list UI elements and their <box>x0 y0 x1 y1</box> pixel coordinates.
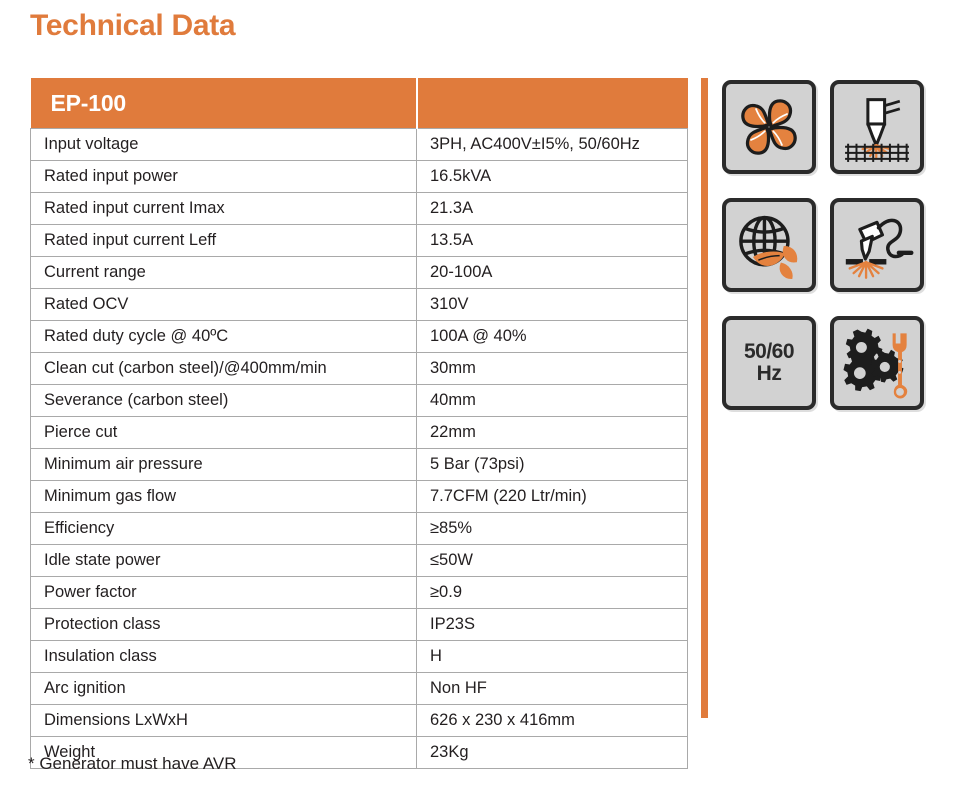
fan-icon <box>733 91 805 163</box>
table-row: Pierce cut22mm <box>31 417 688 449</box>
spec-value: 16.5kVA <box>417 161 688 193</box>
spec-label: Arc ignition <box>31 673 417 705</box>
table-row: Rated input current Leff13.5A <box>31 225 688 257</box>
table-row: Arc ignitionNon HF <box>31 673 688 705</box>
spec-value: H <box>417 641 688 673</box>
spec-label: Idle state power <box>31 545 417 577</box>
spec-value: 20-100A <box>417 257 688 289</box>
spec-value: Non HF <box>417 673 688 705</box>
spec-label: Clean cut (carbon steel)/@400mm/min <box>31 353 417 385</box>
page-title: Technical Data <box>30 9 235 43</box>
feature-tile-easy-maintenance <box>830 316 924 410</box>
table-row: Dimensions LxWxH626 x 230 x 416mm <box>31 705 688 737</box>
value-column-header <box>417 78 688 129</box>
table-row: Rated input current Imax21.3A <box>31 193 688 225</box>
spec-value: 7.7CFM (220 Ltr/min) <box>417 481 688 513</box>
table-body: Input voltage3PH, AC400V±I5%, 50/60HzRat… <box>31 129 688 769</box>
spec-value: 100A @ 40% <box>417 321 688 353</box>
frequency-unit: Hz <box>744 363 794 385</box>
gears-wrench-icon <box>838 324 916 402</box>
spec-value: 13.5A <box>417 225 688 257</box>
spec-label: Minimum gas flow <box>31 481 417 513</box>
table-row: Input voltage3PH, AC400V±I5%, 50/60Hz <box>31 129 688 161</box>
feature-tile-fine-mesh-cutting <box>830 80 924 174</box>
feature-icon-row-3: 50/60 Hz <box>722 316 934 410</box>
table-row: Rated input power16.5kVA <box>31 161 688 193</box>
spec-label: Rated input current Imax <box>31 193 417 225</box>
spec-label: Insulation class <box>31 641 417 673</box>
spec-value: 5 Bar (73psi) <box>417 449 688 481</box>
spec-value: 626 x 230 x 416mm <box>417 705 688 737</box>
feature-tile-eco-friendly <box>722 198 816 292</box>
frequency-value: 50/60 <box>744 340 794 363</box>
technical-data-table: EP-100 Input voltage3PH, AC400V±I5%, 50/… <box>30 78 688 769</box>
spec-label: Minimum air pressure <box>31 449 417 481</box>
feature-tile-fan-cooling <box>722 80 816 174</box>
spec-value: 21.3A <box>417 193 688 225</box>
spec-value: ≤50W <box>417 545 688 577</box>
spec-value: 40mm <box>417 385 688 417</box>
spec-label: Protection class <box>31 609 417 641</box>
torch-grid-icon <box>839 89 915 165</box>
feature-tile-torch-cutting <box>830 198 924 292</box>
frequency-icon: 50/60 Hz <box>744 341 794 385</box>
feature-icon-row-1 <box>722 80 934 174</box>
spec-value: IP23S <box>417 609 688 641</box>
spec-label: Rated duty cycle @ 40ºC <box>31 321 417 353</box>
table-row: Idle state power≤50W <box>31 545 688 577</box>
spec-value: 23Kg <box>417 737 688 769</box>
feature-icon-grid: 50/60 Hz <box>722 80 934 434</box>
spec-value: 310V <box>417 289 688 321</box>
feature-icon-row-2 <box>722 198 934 292</box>
table-row: Efficiency≥85% <box>31 513 688 545</box>
table-row: Current range20-100A <box>31 257 688 289</box>
spec-value: 22mm <box>417 417 688 449</box>
table-row: Minimum gas flow7.7CFM (220 Ltr/min) <box>31 481 688 513</box>
spec-value: ≥0.9 <box>417 577 688 609</box>
table-row: Insulation classH <box>31 641 688 673</box>
spec-label: Pierce cut <box>31 417 417 449</box>
spec-label: Rated OCV <box>31 289 417 321</box>
spec-label: Current range <box>31 257 417 289</box>
spec-value: ≥85% <box>417 513 688 545</box>
table-row: Severance (carbon steel)40mm <box>31 385 688 417</box>
torch-cable-icon <box>838 206 916 284</box>
vertical-divider <box>701 78 708 718</box>
feature-tile-frequency: 50/60 Hz <box>722 316 816 410</box>
table-row: Protection classIP23S <box>31 609 688 641</box>
spec-label: Rated input current Leff <box>31 225 417 257</box>
table-row: Rated duty cycle @ 40ºC100A @ 40% <box>31 321 688 353</box>
spec-label: Dimensions LxWxH <box>31 705 417 737</box>
spec-label: Rated input power <box>31 161 417 193</box>
table-row: Minimum air pressure5 Bar (73psi) <box>31 449 688 481</box>
table-row: Rated OCV310V <box>31 289 688 321</box>
model-name-header: EP-100 <box>31 78 417 129</box>
spec-label: Efficiency <box>31 513 417 545</box>
spec-label: Input voltage <box>31 129 417 161</box>
table-row: Power factor≥0.9 <box>31 577 688 609</box>
table-row: Clean cut (carbon steel)/@400mm/min30mm <box>31 353 688 385</box>
spec-label: Power factor <box>31 577 417 609</box>
footnote: * Generator must have AVR <box>28 754 237 774</box>
globe-leaves-icon <box>731 207 807 283</box>
spec-label: Severance (carbon steel) <box>31 385 417 417</box>
spec-value: 30mm <box>417 353 688 385</box>
spec-value: 3PH, AC400V±I5%, 50/60Hz <box>417 129 688 161</box>
table-header-row: EP-100 <box>31 78 688 129</box>
